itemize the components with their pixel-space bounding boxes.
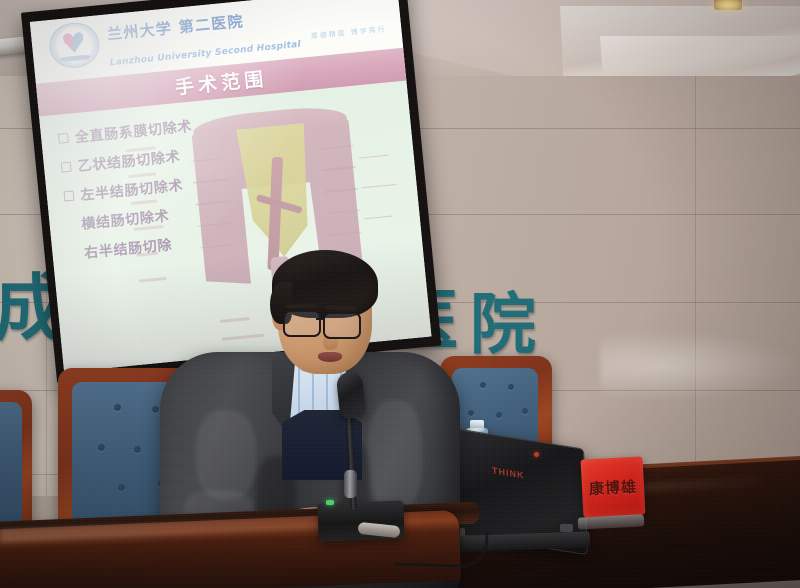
bullet-text: 左半结肠切除术 xyxy=(80,175,184,205)
microphone-cable xyxy=(394,528,488,568)
glasses-left-lens xyxy=(283,310,321,337)
ceiling-light xyxy=(714,0,742,10)
glasses-bridge xyxy=(316,318,325,320)
mouth xyxy=(318,352,342,362)
name-plate: 康博雄 xyxy=(581,456,646,517)
slide-title: 手术范围 xyxy=(174,64,269,100)
wall-char-yuan: 院 xyxy=(470,292,536,358)
checkbox-icon xyxy=(60,162,71,173)
slide-bullet-list: 全直肠系膜切除术 乙状结肠切除术 左半结肠切除术 横结肠切除术 右半结肠切除 xyxy=(57,110,269,274)
glasses-right-lens xyxy=(323,312,361,339)
bullet-text: 右半结肠切除 xyxy=(83,234,173,263)
name-plate-text: 康博雄 xyxy=(588,475,637,498)
checkbox-icon xyxy=(63,191,74,202)
photo-scene: 成 医 院 兰州大学 第二医院 Lanzhou University Secon… xyxy=(0,0,800,588)
microphone-collar xyxy=(344,470,357,498)
bullet-text: 乙状结肠切除术 xyxy=(77,146,181,176)
microphone-power-led xyxy=(326,500,334,505)
checkbox-icon xyxy=(58,133,69,144)
bullet-text: 横结肠切除术 xyxy=(80,205,170,234)
laptop-indicator-light xyxy=(534,452,539,457)
